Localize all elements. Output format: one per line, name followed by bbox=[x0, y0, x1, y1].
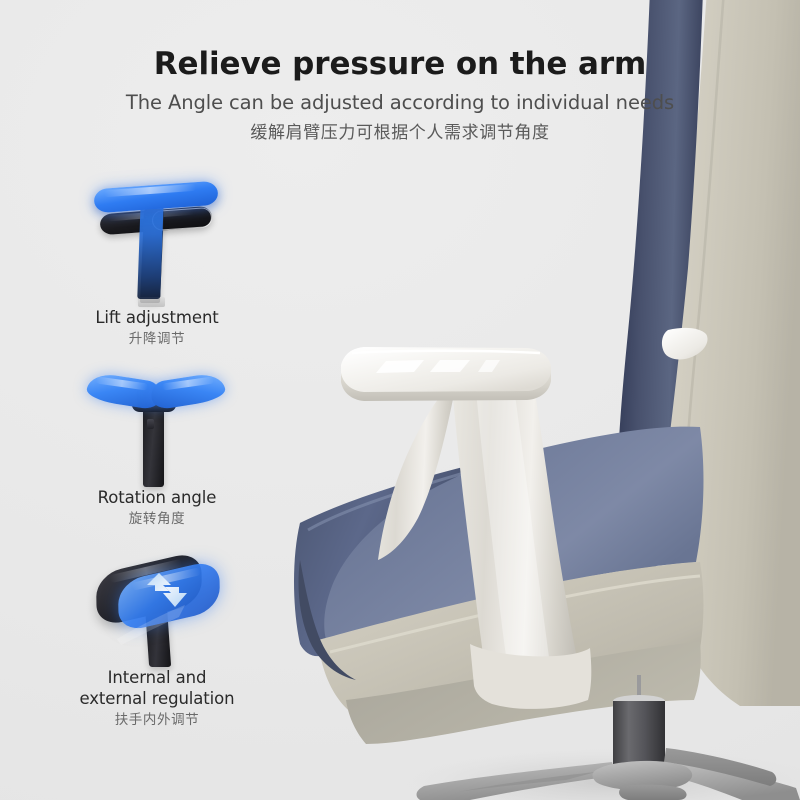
header-block: Relieve pressure on the arm The Angle ca… bbox=[0, 44, 800, 146]
feature-caption-rotation-chinese: 旋转角度 bbox=[22, 509, 292, 529]
feature-caption-rotation: Rotation angle bbox=[22, 487, 292, 508]
page-title: Relieve pressure on the arm bbox=[0, 44, 800, 84]
feature-list: Lift adjustment 升降调节 Rotation angle 旋转角度 bbox=[22, 175, 292, 736]
feature-item-rotation-angle[interactable]: Rotation angle 旋转角度 bbox=[22, 355, 292, 529]
armrest-slide-icon bbox=[22, 535, 292, 667]
feature-item-lift-adjustment[interactable]: Lift adjustment 升降调节 bbox=[22, 175, 292, 349]
feature-caption-regulation-chinese: 扶手内外调节 bbox=[22, 710, 292, 730]
feature-caption-regulation-line2: external regulation bbox=[22, 688, 292, 709]
rotate-icon-pad-right bbox=[149, 371, 226, 410]
armrest-rotate-icon bbox=[22, 355, 292, 487]
page-subtitle: The Angle can be adjusted according to i… bbox=[0, 88, 800, 118]
feature-caption-lift: Lift adjustment bbox=[22, 307, 292, 328]
product-feature-image: Relieve pressure on the arm The Angle ca… bbox=[0, 0, 800, 800]
arrow-slide-band bbox=[117, 605, 185, 645]
page-subtitle-chinese: 缓解肩臂压力可根据个人需求调节角度 bbox=[0, 120, 800, 146]
feature-caption-lift-chinese: 升降调节 bbox=[22, 329, 292, 349]
lift-icon-blue-post bbox=[137, 199, 163, 299]
rotate-icon-post bbox=[143, 405, 164, 487]
armrest-lift-icon bbox=[22, 175, 292, 307]
feature-caption-regulation-line1: Internal and bbox=[22, 667, 292, 688]
feature-item-internal-external-regulation[interactable]: Internal and external regulation 扶手内外调节 bbox=[22, 535, 292, 730]
slide-icon-arrows bbox=[81, 543, 233, 667]
